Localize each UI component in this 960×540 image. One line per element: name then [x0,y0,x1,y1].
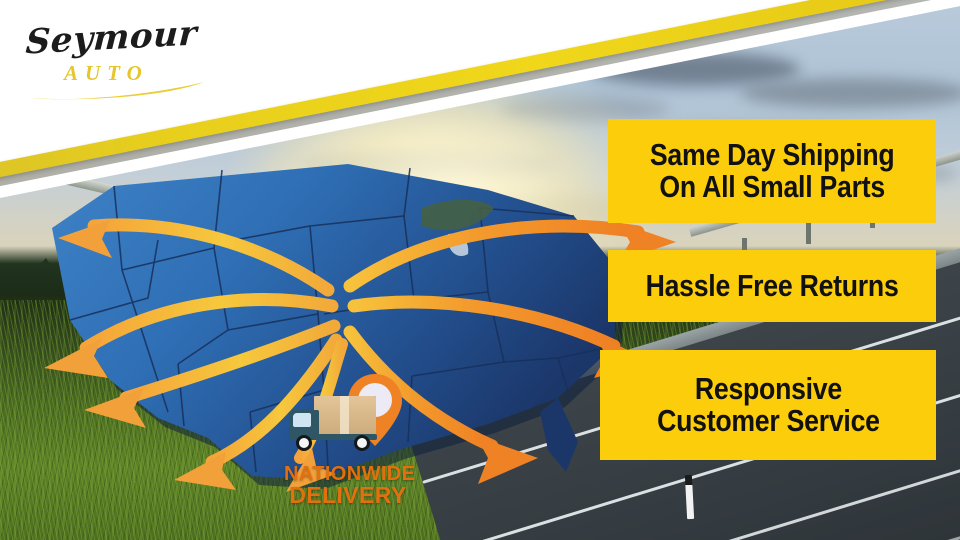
brand-logo[interactable]: Seymour AUTO [18,14,208,100]
callout-2-line-1: Hassle Free Returns [646,270,899,302]
us-map-graphic: NATIONWIDE DELIVERY [18,150,658,490]
callout-same-day-shipping[interactable]: Same Day Shipping On All Small Parts [608,119,936,223]
callout-1-line-2: On All Small Parts [650,171,895,203]
curved-arrow-icon [58,220,328,290]
truck-wheel [354,435,370,451]
nationwide-delivery-badge: NATIONWIDE DELIVERY [284,372,412,458]
callout-3-line-1: Responsive [657,373,880,405]
logo-script-text: Seymour [25,14,199,63]
truck-wheel [296,435,312,451]
callout-1-line-1: Same Day Shipping [650,139,895,171]
promo-banner: Seymour AUTO [0,0,960,540]
nationwide-line2: DELIVERY [284,484,412,507]
callout-3-line-2: Customer Service [657,405,880,437]
callout-hassle-free-returns[interactable]: Hassle Free Returns [608,250,936,322]
cloud [740,78,960,108]
guardrail-post [806,222,811,244]
nationwide-delivery-text: NATIONWIDE DELIVERY [284,464,412,508]
logo-swoosh-icon [28,80,206,102]
nationwide-line1: NATIONWIDE [284,464,412,484]
callout-responsive-customer-service[interactable]: Responsive Customer Service [600,350,936,460]
cardboard-box-icon [314,396,376,436]
truck-window [293,413,311,427]
